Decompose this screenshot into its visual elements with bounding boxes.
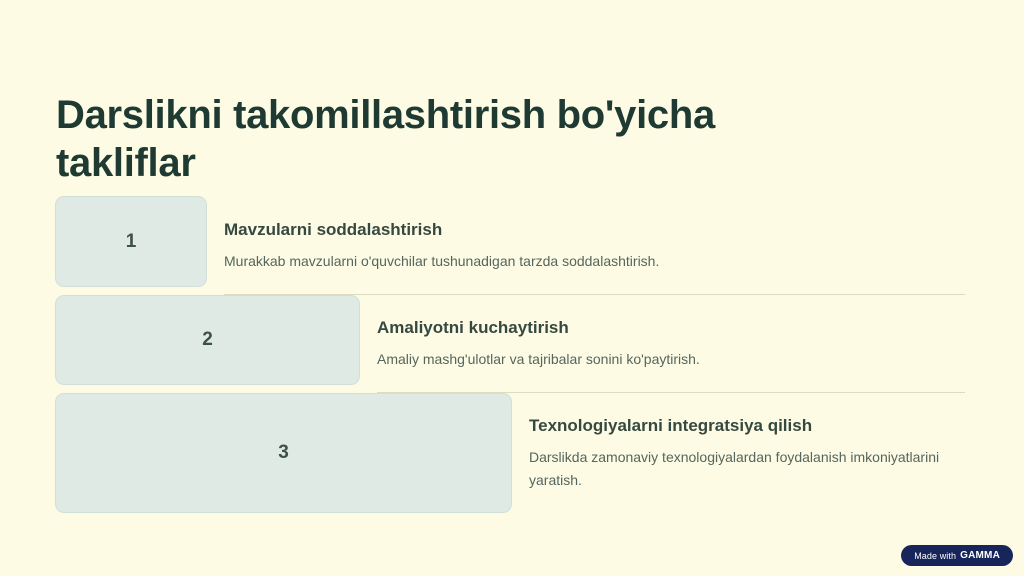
item-number: 2 [202,329,213,351]
item-body: Mavzularni soddalashtirish Murakkab mavz… [207,196,1024,295]
item-number-card: 1 [55,196,207,287]
item-description: Amaliy mashg'ulotlar va tajribalar sonin… [377,348,897,371]
suggestions-list: 1 Mavzularni soddalashtirish Murakkab ma… [0,196,1024,513]
list-item: 2 Amaliyotni kuchaytirish Amaliy mashg'u… [0,295,1024,393]
list-item: 3 Texnologiyalarni integratsiya qilish D… [0,393,1024,513]
page-title: Darslikni takomillashtirish bo'yicha tak… [56,91,916,187]
made-with-label: Made with [914,551,956,561]
item-number: 1 [126,231,137,253]
item-heading: Texnologiyalarni integratsiya qilish [529,415,965,437]
slide: Darslikni takomillashtirish bo'yicha tak… [0,0,1024,576]
item-heading: Amaliyotni kuchaytirish [377,317,965,339]
item-description: Murakkab mavzularni o'quvchilar tushunad… [224,250,824,273]
item-number-card: 2 [55,295,360,385]
made-with-gamma-badge[interactable]: Made with GAMMA [901,545,1013,566]
item-description: Darslikda zamonaviy texnologiyalardan fo… [529,446,959,492]
item-heading: Mavzularni soddalashtirish [224,219,965,241]
item-number-card: 3 [55,393,512,513]
item-number: 3 [278,442,289,464]
gamma-wordmark: GAMMA [960,550,1000,561]
item-body: Texnologiyalarni integratsiya qilish Dar… [512,393,1024,513]
list-item: 1 Mavzularni soddalashtirish Murakkab ma… [0,196,1024,295]
item-body: Amaliyotni kuchaytirish Amaliy mashg'ulo… [360,295,1024,393]
